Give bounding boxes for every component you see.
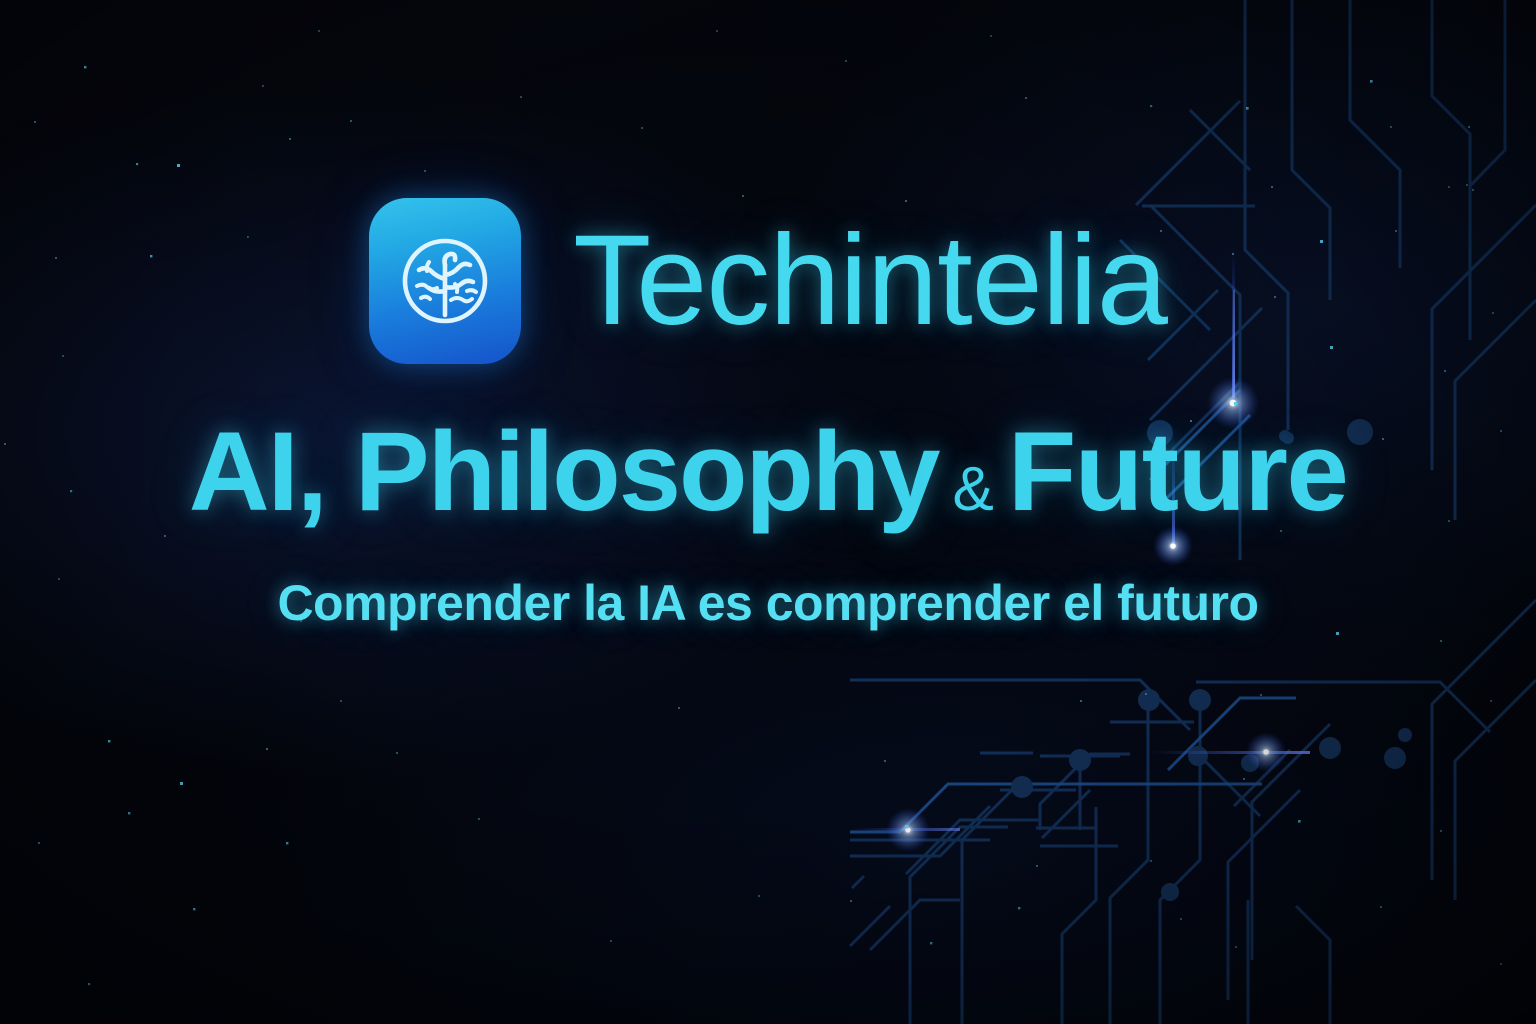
hero-content: Techintelia AI, Philosophy & Future Comp… — [0, 0, 1536, 1024]
hero-headline: AI, Philosophy & Future — [189, 416, 1348, 528]
brand-name: Techintelia — [573, 222, 1167, 340]
headline-part-1: AI, Philosophy — [189, 416, 939, 528]
brand-row: Techintelia — [369, 198, 1167, 364]
app-logo-tile — [369, 198, 521, 364]
headline-ampersand: & — [939, 459, 1008, 521]
headline-part-2: Future — [1008, 416, 1347, 528]
tree-in-circle-icon — [393, 229, 497, 333]
hero-subtitle: Comprender la IA es comprender el futuro — [277, 578, 1258, 628]
